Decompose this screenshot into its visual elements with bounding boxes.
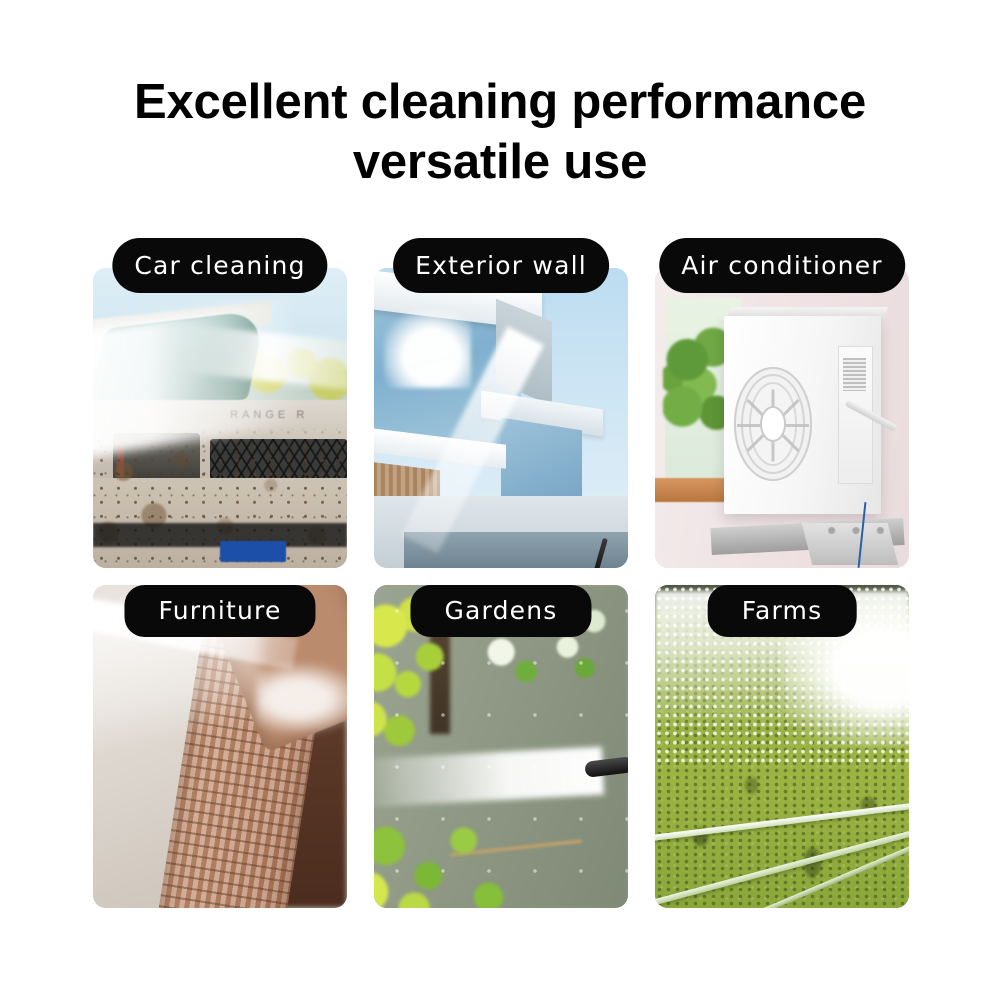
use-case-tile-air-conditioner[interactable]: Air conditioner [655,238,909,568]
badge-air-conditioner[interactable]: Air conditioner [659,238,905,293]
use-case-tile-exterior-wall[interactable]: Exterior wall [374,238,628,568]
exterior-wall-photo [374,268,628,568]
badge-furniture[interactable]: Furniture [124,585,315,637]
use-case-tile-car-cleaning[interactable]: RANGE R Car cleaning [93,238,347,568]
headline-line-2: versatile use [0,132,1000,192]
badge-exterior-wall[interactable]: Exterior wall [393,238,609,293]
car-cleaning-photo: RANGE R [93,268,347,568]
use-case-tile-farms[interactable]: Farms [655,585,909,915]
use-case-tile-furniture[interactable]: Furniture [93,585,347,915]
badge-car-cleaning[interactable]: Car cleaning [112,238,327,293]
air-conditioner-photo [655,268,909,568]
use-case-grid: RANGE R Car cleaning [93,238,909,915]
badge-gardens[interactable]: Gardens [410,585,591,637]
page-title: Excellent cleaning performance versatile… [0,72,1000,192]
badge-farms[interactable]: Farms [708,585,857,637]
headline-line-1: Excellent cleaning performance [0,72,1000,132]
use-case-tile-gardens[interactable]: Gardens [374,585,628,915]
